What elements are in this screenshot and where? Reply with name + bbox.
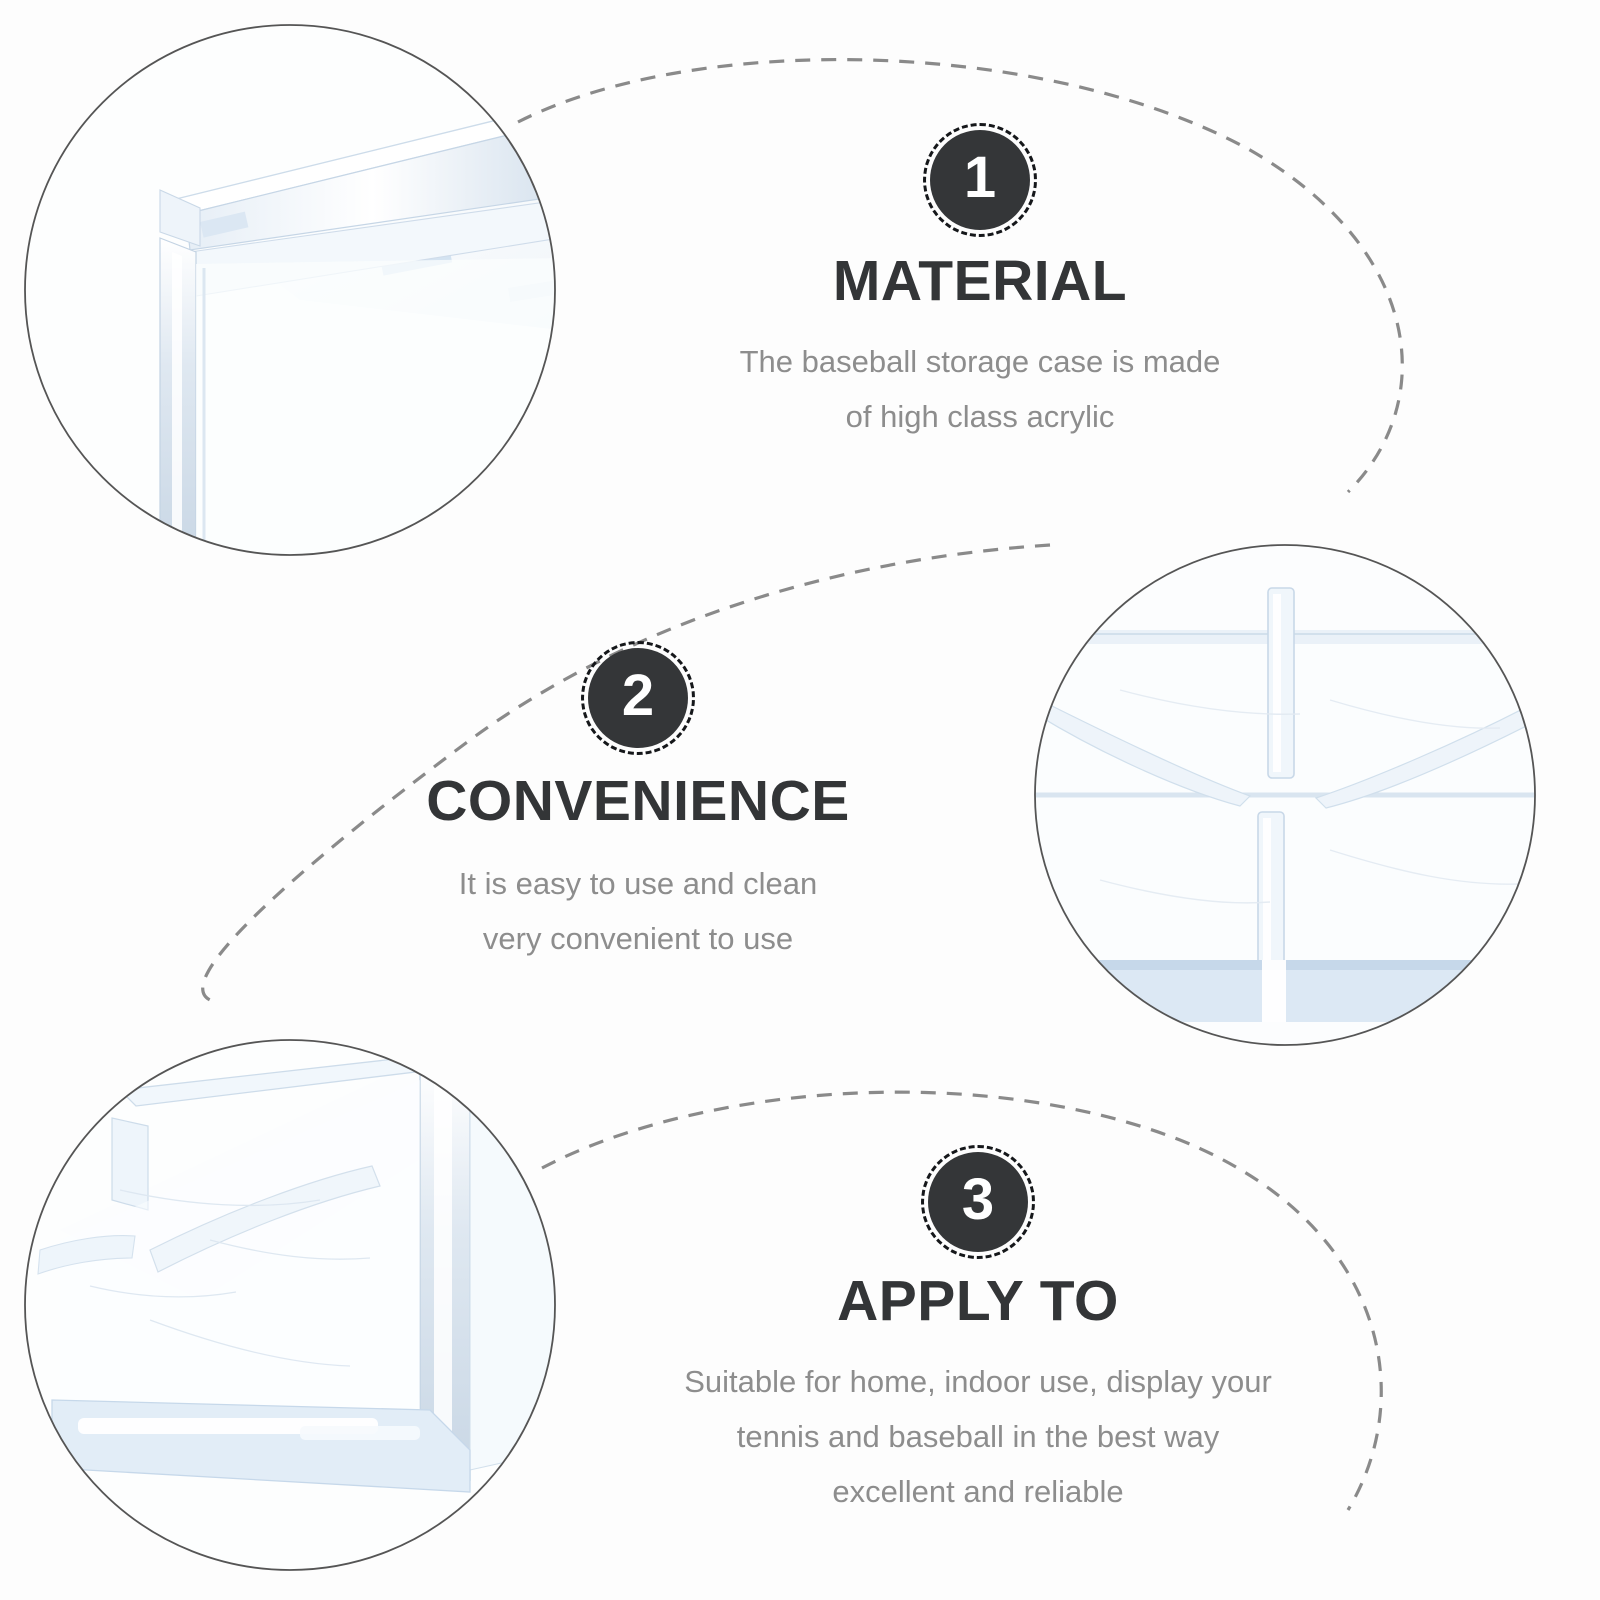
section-body-line: excellent and reliable (628, 1464, 1328, 1519)
section-3: APPLY TO Suitable for home, indoor use, … (628, 1272, 1328, 1519)
section-body-line: tennis and baseball in the best way (628, 1409, 1328, 1464)
step-number-2: 2 (622, 667, 654, 725)
infographic-canvas: 1 MATERIAL The baseball storage case is … (0, 0, 1600, 1600)
section-body-2: It is easy to use and clean very conveni… (288, 856, 988, 966)
step-badge-1: 1 (930, 130, 1030, 230)
section-heading-1: MATERIAL (630, 252, 1330, 312)
step-badge-3: 3 (928, 1152, 1028, 1252)
section-heading-2: CONVENIENCE (288, 772, 988, 832)
section-body-1: The baseball storage case is made of hig… (630, 334, 1330, 444)
section-body-line: very convenient to use (288, 911, 988, 966)
step-number-3: 3 (962, 1171, 994, 1229)
section-body-line: Suitable for home, indoor use, display y… (628, 1354, 1328, 1409)
section-2: CONVENIENCE It is easy to use and clean … (288, 772, 988, 966)
step-badge-2: 2 (588, 648, 688, 748)
section-body-line: of high class acrylic (630, 389, 1330, 444)
section-body-line: It is easy to use and clean (288, 856, 988, 911)
section-1: MATERIAL The baseball storage case is ma… (630, 252, 1330, 444)
step-number-1: 1 (964, 149, 996, 207)
section-heading-3: APPLY TO (628, 1272, 1328, 1332)
section-body-3: Suitable for home, indoor use, display y… (628, 1354, 1328, 1519)
section-body-line: The baseball storage case is made (630, 334, 1330, 389)
